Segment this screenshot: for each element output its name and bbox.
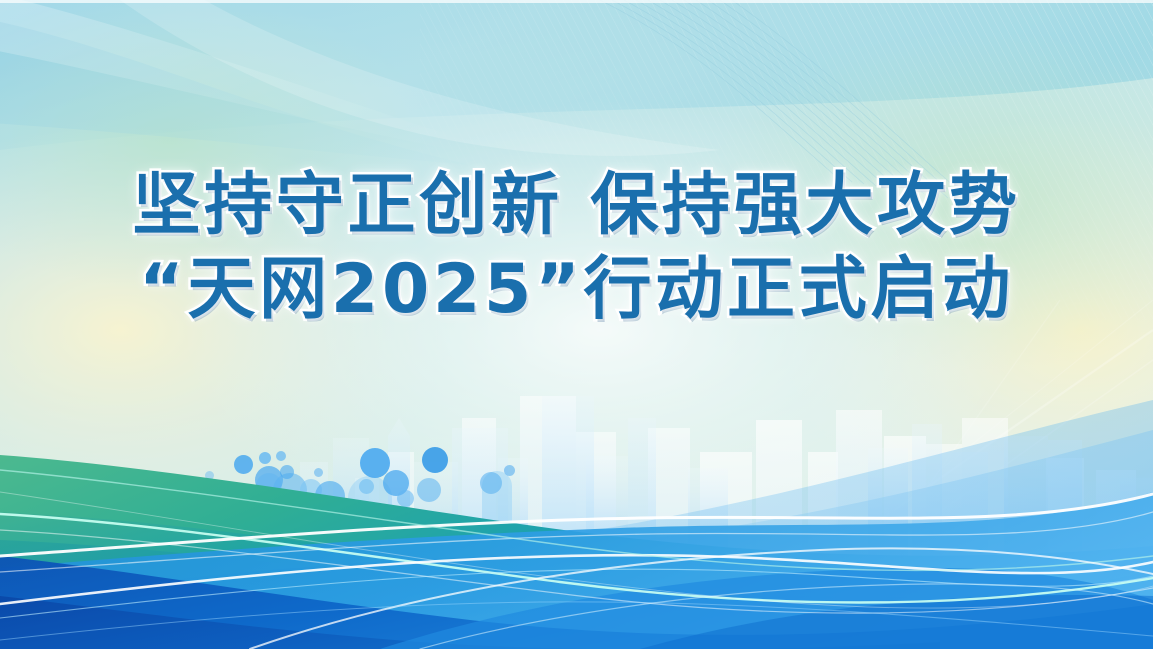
poster-banner: 坚持守正创新 保持强大攻势 “天网2025”行动正式启动 xyxy=(0,0,1153,649)
wave-layer xyxy=(0,0,1153,649)
